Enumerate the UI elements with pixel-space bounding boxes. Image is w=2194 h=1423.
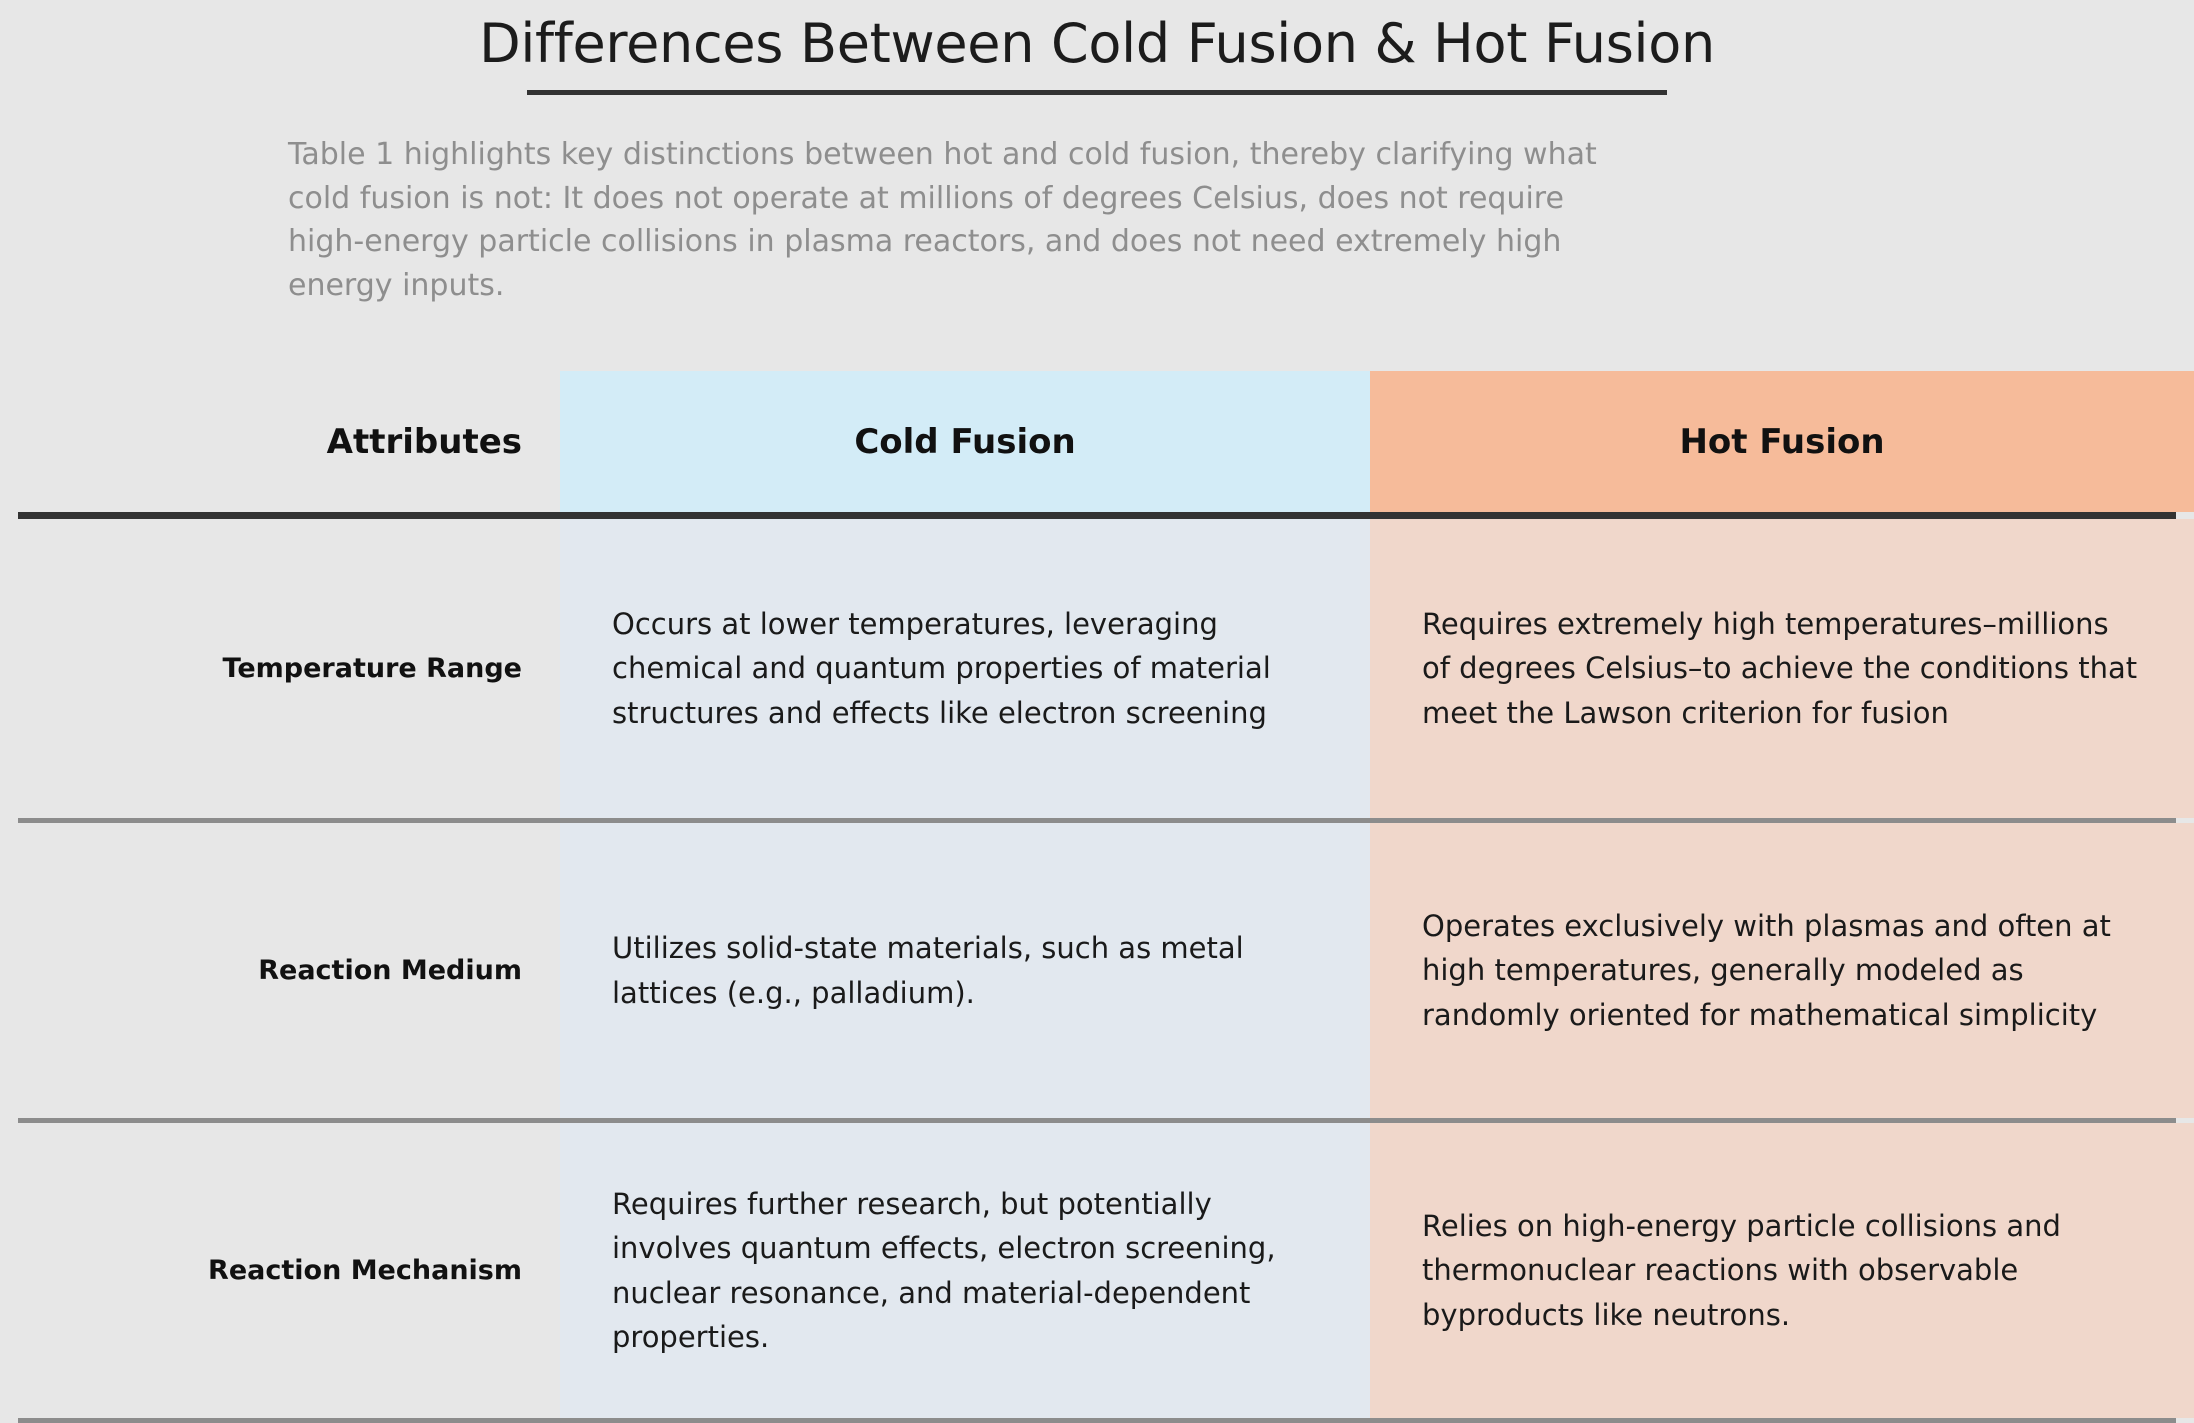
row-divider-left — [0, 1418, 560, 1423]
title-underline-rule — [527, 90, 1667, 95]
cell-hot-temperature-range: Requires extremely high temperatures–mil… — [1370, 519, 2194, 818]
row-label-temperature-range: Temperature Range — [0, 519, 560, 818]
header-divider-row — [0, 512, 2194, 519]
row-divider-right — [1370, 1418, 2194, 1423]
cell-cold-reaction-mechanism: Requires further research, but potential… — [560, 1123, 1370, 1418]
column-header-cold-fusion: Cold Fusion — [560, 371, 1370, 512]
cell-cold-reaction-medium: Utilizes solid-state materials, such as … — [560, 823, 1370, 1118]
row-divider — [0, 1418, 2194, 1423]
column-header-hot-fusion: Hot Fusion — [1370, 371, 2194, 512]
header-divider-middle — [560, 512, 1370, 519]
table-row: Reaction Mechanism Requires further rese… — [0, 1123, 2194, 1418]
cell-hot-reaction-mechanism: Relies on high-energy particle collision… — [1370, 1123, 2194, 1418]
title-block: Differences Between Cold Fusion & Hot Fu… — [0, 0, 2194, 95]
table-row: Temperature Range Occurs at lower temper… — [0, 519, 2194, 818]
table-header-row: Attributes Cold Fusion Hot Fusion — [0, 371, 2194, 512]
page-title: Differences Between Cold Fusion & Hot Fu… — [0, 14, 2194, 90]
header-divider-right — [1370, 512, 2194, 519]
row-label-reaction-medium: Reaction Medium — [0, 823, 560, 1118]
comparison-table-wrapper: Attributes Cold Fusion Hot Fusion Temper… — [0, 371, 2194, 1423]
subtitle-paragraph: Table 1 highlights key distinctions betw… — [0, 133, 1640, 307]
table-row: Reaction Medium Utilizes solid-state mat… — [0, 823, 2194, 1118]
table-body: Temperature Range Occurs at lower temper… — [0, 519, 2194, 1423]
column-header-attributes: Attributes — [0, 371, 560, 512]
cell-cold-temperature-range: Occurs at lower temperatures, leveraging… — [560, 519, 1370, 818]
row-label-reaction-mechanism: Reaction Mechanism — [0, 1123, 560, 1418]
table-header: Attributes Cold Fusion Hot Fusion — [0, 371, 2194, 519]
cell-hot-reaction-medium: Operates exclusively with plasmas and of… — [1370, 823, 2194, 1118]
comparison-table: Attributes Cold Fusion Hot Fusion Temper… — [0, 371, 2194, 1423]
header-divider-left — [0, 512, 560, 519]
document-page: Differences Between Cold Fusion & Hot Fu… — [0, 0, 2194, 1234]
row-divider-middle — [560, 1418, 1370, 1423]
